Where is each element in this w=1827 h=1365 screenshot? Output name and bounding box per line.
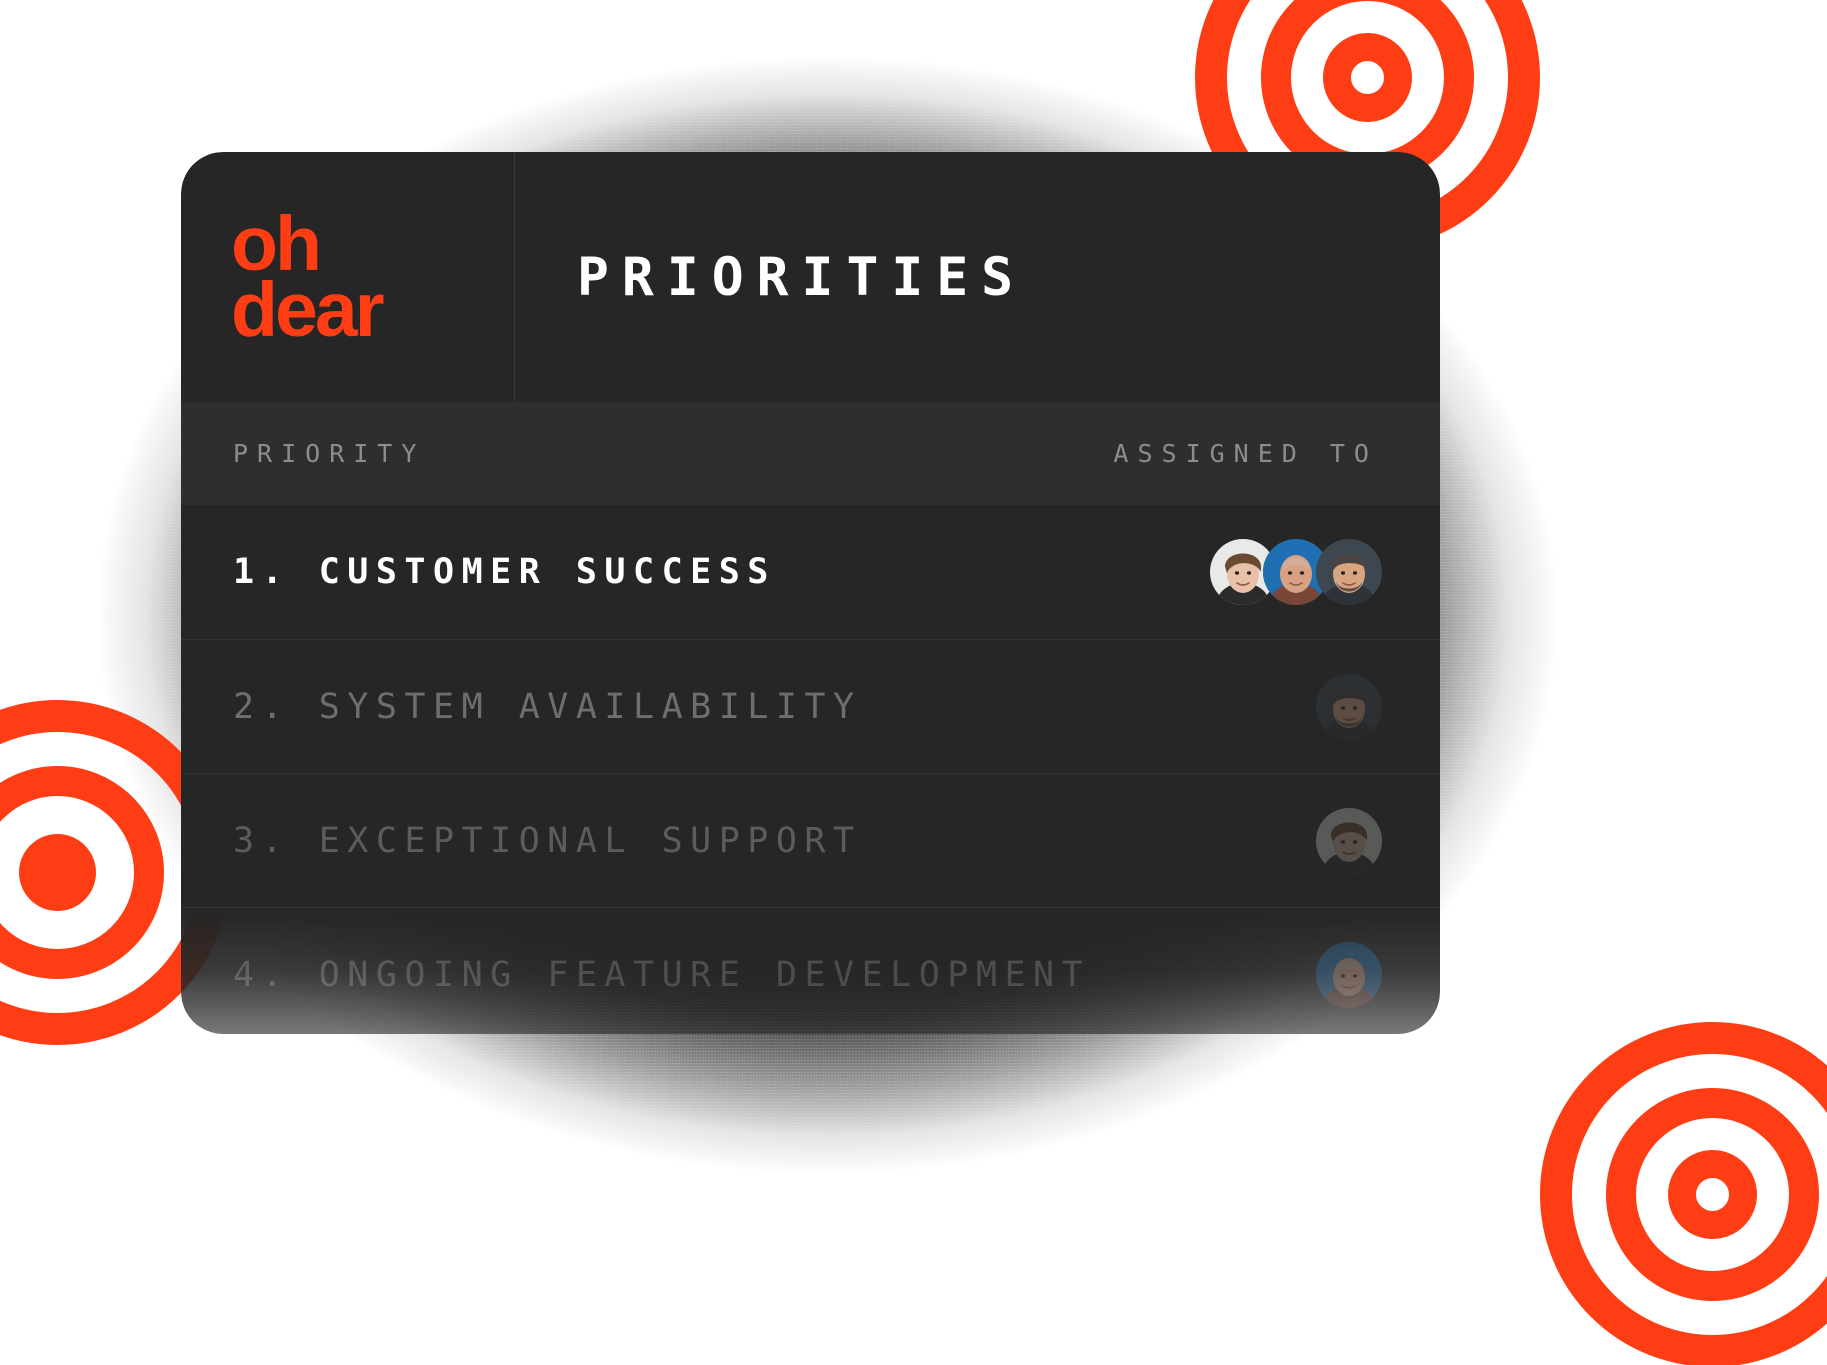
assignee-avatar-group[interactable]: [1316, 808, 1388, 874]
avatar[interactable]: [1316, 808, 1382, 874]
priority-row[interactable]: 4. ONGOING FEATURE DEVELOPMENT: [181, 907, 1440, 1034]
page-title: PRIORITIES: [577, 247, 1026, 308]
assignee-avatar-group[interactable]: [1210, 539, 1388, 605]
logo-line-2: dear: [231, 277, 382, 343]
avatar[interactable]: [1316, 942, 1382, 1008]
oh-dear-logotype: oh dear: [231, 211, 382, 343]
priority-row-label: 2. SYSTEM AVAILABILITY: [233, 687, 1316, 727]
priority-row-label: 3. EXCEPTIONAL SUPPORT: [233, 821, 1316, 861]
priority-row[interactable]: 3. EXCEPTIONAL SUPPORT: [181, 773, 1440, 907]
column-header-assigned-to: ASSIGNED TO: [1113, 439, 1388, 468]
table-header-row: PRIORITY ASSIGNED TO: [181, 402, 1440, 505]
priorities-card: oh dear PRIORITIES PRIORITY ASSIGNED TO …: [181, 152, 1440, 1034]
priority-row-label: 1. CUSTOMER SUCCESS: [233, 552, 1210, 592]
avatar[interactable]: [1316, 539, 1382, 605]
priority-row[interactable]: 2. SYSTEM AVAILABILITY: [181, 639, 1440, 773]
assignee-avatar-group[interactable]: [1316, 674, 1388, 740]
target-rings-bottom-right-icon: [1540, 1022, 1827, 1365]
avatar[interactable]: [1316, 674, 1382, 740]
column-header-priority: PRIORITY: [233, 439, 1113, 468]
assignee-avatar-group[interactable]: [1316, 942, 1388, 1008]
priority-row[interactable]: 1. CUSTOMER SUCCESS: [181, 505, 1440, 639]
card-header: oh dear PRIORITIES: [181, 152, 1440, 402]
priority-list: 1. CUSTOMER SUCCESS2. SYSTEM AVAILABILIT…: [181, 505, 1440, 1034]
priority-row-label: 4. ONGOING FEATURE DEVELOPMENT: [233, 955, 1316, 995]
screenshot-stage: oh dear PRIORITIES PRIORITY ASSIGNED TO …: [0, 0, 1827, 1365]
brand-logo[interactable]: oh dear: [181, 152, 515, 402]
card-title-cell: PRIORITIES: [515, 152, 1440, 402]
